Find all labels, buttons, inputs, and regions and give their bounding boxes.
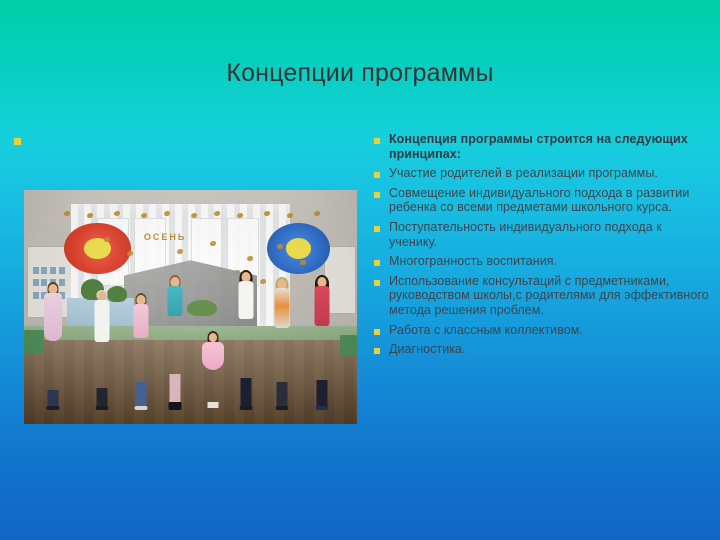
list-item: Многогранность воспитания. bbox=[374, 254, 712, 269]
bullet-square-icon bbox=[374, 138, 380, 144]
list-item-label: Совмещение индивидуального подхода в раз… bbox=[389, 186, 712, 215]
slide-photo: ОСЕНЬ bbox=[24, 190, 357, 424]
photo-red-flower bbox=[64, 223, 131, 274]
list-item-label: Использование консультаций с предметника… bbox=[389, 274, 712, 318]
bullet-square-icon bbox=[14, 138, 21, 145]
list-item bbox=[8, 132, 372, 146]
photo-autumn-lettering: ОСЕНЬ bbox=[144, 232, 186, 242]
list-item: Использование консультаций с предметника… bbox=[374, 274, 712, 318]
bullet-square-icon bbox=[374, 348, 380, 354]
bullet-square-icon bbox=[374, 226, 380, 232]
photo-child bbox=[274, 279, 291, 408]
bullet-square-icon bbox=[374, 192, 380, 198]
photo-floor bbox=[24, 340, 357, 424]
photo-child bbox=[134, 295, 149, 407]
list-item-label: Многогранность воспитания. bbox=[389, 254, 712, 269]
list-item: Участие родителей в реализации программы… bbox=[374, 166, 712, 181]
photo-plant bbox=[187, 300, 217, 316]
page-title: Концепции программы bbox=[226, 60, 493, 88]
list-item: Поступательность индивидуального подхода… bbox=[374, 220, 712, 249]
photo-child bbox=[94, 291, 110, 408]
bullet-square-icon bbox=[374, 329, 380, 335]
photo-child bbox=[167, 277, 183, 408]
list-item: Концепция программы строится на следующи… bbox=[374, 132, 712, 161]
bullet-square-icon bbox=[374, 260, 380, 266]
photo-chair bbox=[340, 335, 357, 356]
list-item-label: Диагностика. bbox=[389, 342, 712, 357]
bullet-square-icon bbox=[374, 172, 380, 178]
photo-child bbox=[314, 277, 331, 408]
list-item-label: Работа с классным коллективом. bbox=[389, 323, 712, 338]
list-item-label: Участие родителей в реализации программы… bbox=[389, 166, 712, 181]
photo-chair bbox=[24, 330, 44, 353]
title-area: Концепции программы bbox=[40, 52, 680, 96]
photo-blue-flower bbox=[267, 223, 330, 274]
list-item-label: Концепция программы строится на следующи… bbox=[389, 132, 712, 161]
photo-plant bbox=[107, 286, 127, 302]
photo-scene: ОСЕНЬ bbox=[24, 190, 357, 424]
list-item: Диагностика. bbox=[374, 342, 712, 357]
photo-child bbox=[44, 284, 62, 408]
presentation-slide: Концепции программы Концепция программы … bbox=[0, 0, 720, 540]
bullet-square-icon bbox=[374, 280, 380, 286]
photo-child bbox=[237, 272, 254, 408]
list-item: Совмещение индивидуального подхода в раз… bbox=[374, 186, 712, 215]
list-item-label bbox=[30, 132, 372, 146]
right-content-column: Концепция программы строится на следующи… bbox=[374, 132, 712, 362]
left-content-column bbox=[8, 132, 372, 151]
list-item: Работа с классным коллективом. bbox=[374, 323, 712, 338]
list-item-label: Поступательность индивидуального подхода… bbox=[389, 220, 712, 249]
photo-child bbox=[204, 333, 222, 408]
